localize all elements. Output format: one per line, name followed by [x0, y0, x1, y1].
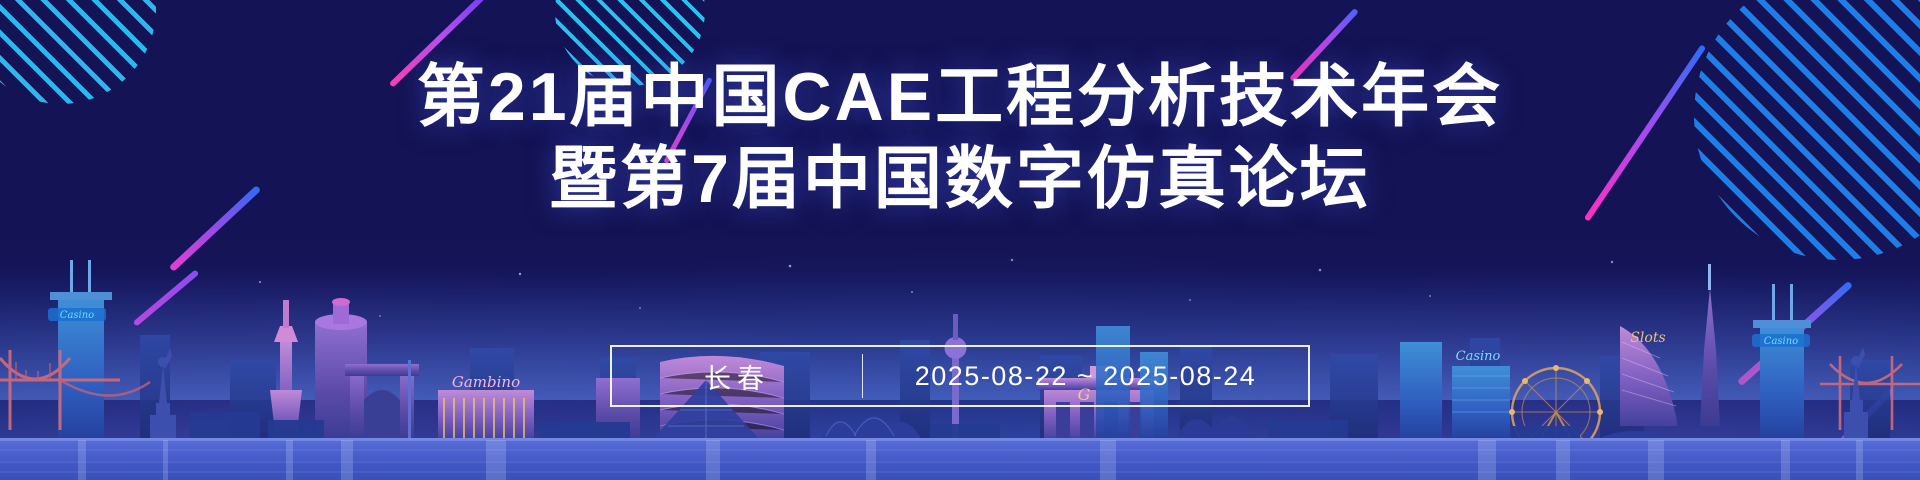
event-banner: Casino — [0, 0, 1920, 480]
svg-text:Casino: Casino — [60, 310, 94, 321]
title-line-2: 暨第7届中国数字仿真论坛 — [0, 138, 1920, 220]
event-date-range: 2025-08-22 ~ 2025-08-24 — [863, 361, 1308, 392]
svg-text:Gambino: Gambino — [452, 373, 520, 391]
title-line-1: 第21届中国CAE工程分析技术年会 — [0, 56, 1920, 138]
svg-text:Casino: Casino — [1764, 336, 1798, 347]
svg-text:Casino: Casino — [1456, 349, 1501, 364]
event-city: 长春 — [612, 357, 862, 396]
banner-title: 第21届中国CAE工程分析技术年会 暨第7届中国数字仿真论坛 — [0, 56, 1920, 220]
event-info-box: 长春 2025-08-22 ~ 2025-08-24 — [610, 345, 1310, 407]
svg-text:Slots: Slots — [1630, 330, 1665, 346]
